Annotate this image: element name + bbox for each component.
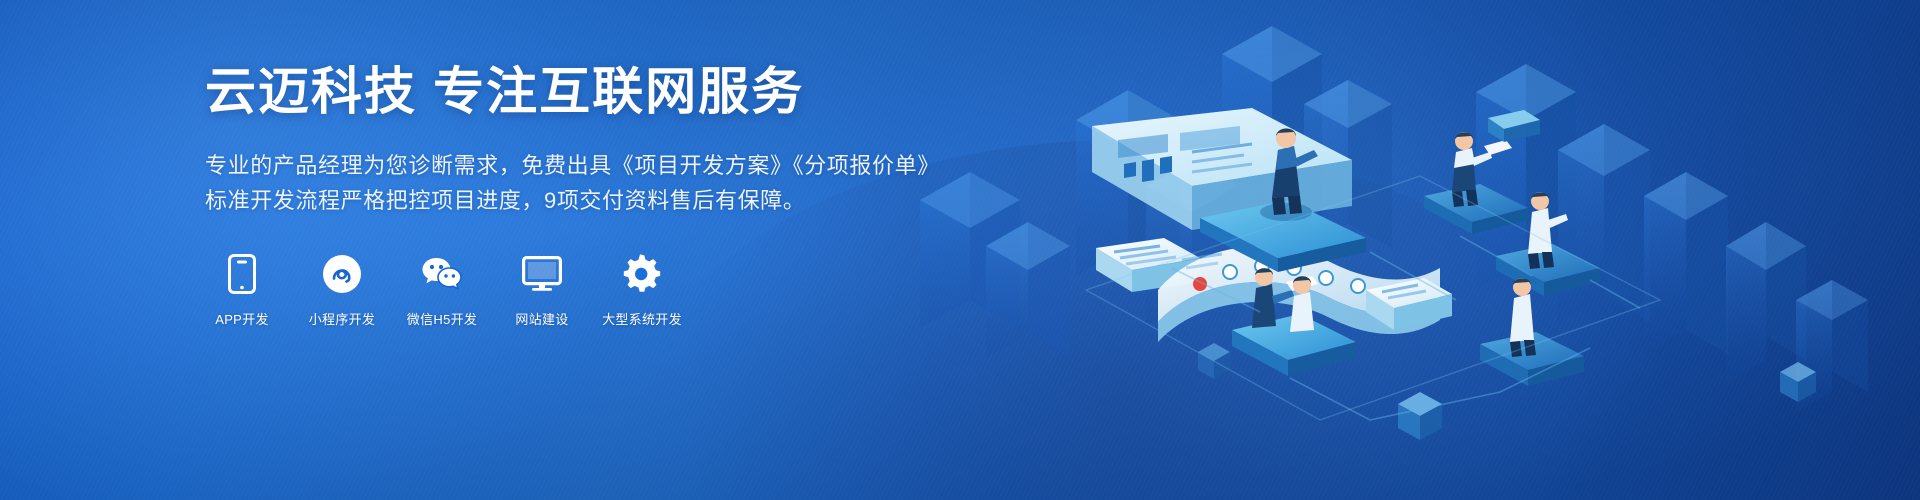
service-label-website: 网站建设 — [515, 309, 568, 328]
page-title: 云迈科技 专注互联网服务 — [205, 63, 925, 122]
service-item-large-system[interactable]: 大型系统开发 — [605, 253, 679, 328]
hero-content: 云迈科技 专注互联网服务 专业的产品经理为您诊断需求，免费出具《项目开发方案》《… — [205, 63, 925, 328]
service-label-app: APP开发 — [215, 309, 269, 328]
glow-top-right — [840, 0, 1740, 500]
wechat-icon — [421, 253, 463, 295]
monitor-icon — [521, 253, 563, 295]
service-item-mini-program[interactable]: 小程序开发 — [305, 253, 379, 328]
mini-program-icon — [321, 253, 363, 295]
isometric-business-analytics-illustration — [900, 0, 1920, 500]
service-item-wechat-h5[interactable]: 微信H5开发 — [405, 253, 479, 328]
service-label-mini-program: 小程序开发 — [309, 309, 376, 328]
subtitle-line-1: 专业的产品经理为您诊断需求，免费出具《项目开发方案》《分项报价单》 — [205, 148, 925, 184]
gear-icon — [621, 253, 663, 295]
mobile-phone-icon — [221, 253, 263, 295]
subtitle-line-2: 标准开发流程严格把控项目进度，9项交付资料售后有保障。 — [205, 183, 925, 219]
service-label-wechat-h5: 微信H5开发 — [407, 309, 477, 328]
service-icon-list: APP开发 小程序开发 — [205, 253, 925, 328]
hero-subtitle: 专业的产品经理为您诊断需求，免费出具《项目开发方案》《分项报价单》 标准开发流程… — [205, 148, 925, 219]
service-item-app[interactable]: APP开发 — [205, 253, 279, 328]
hero-banner: 云迈科技 专注互联网服务 专业的产品经理为您诊断需求，免费出具《项目开发方案》《… — [0, 0, 1920, 500]
service-label-large-system: 大型系统开发 — [602, 309, 682, 328]
service-item-website[interactable]: 网站建设 — [505, 253, 579, 328]
